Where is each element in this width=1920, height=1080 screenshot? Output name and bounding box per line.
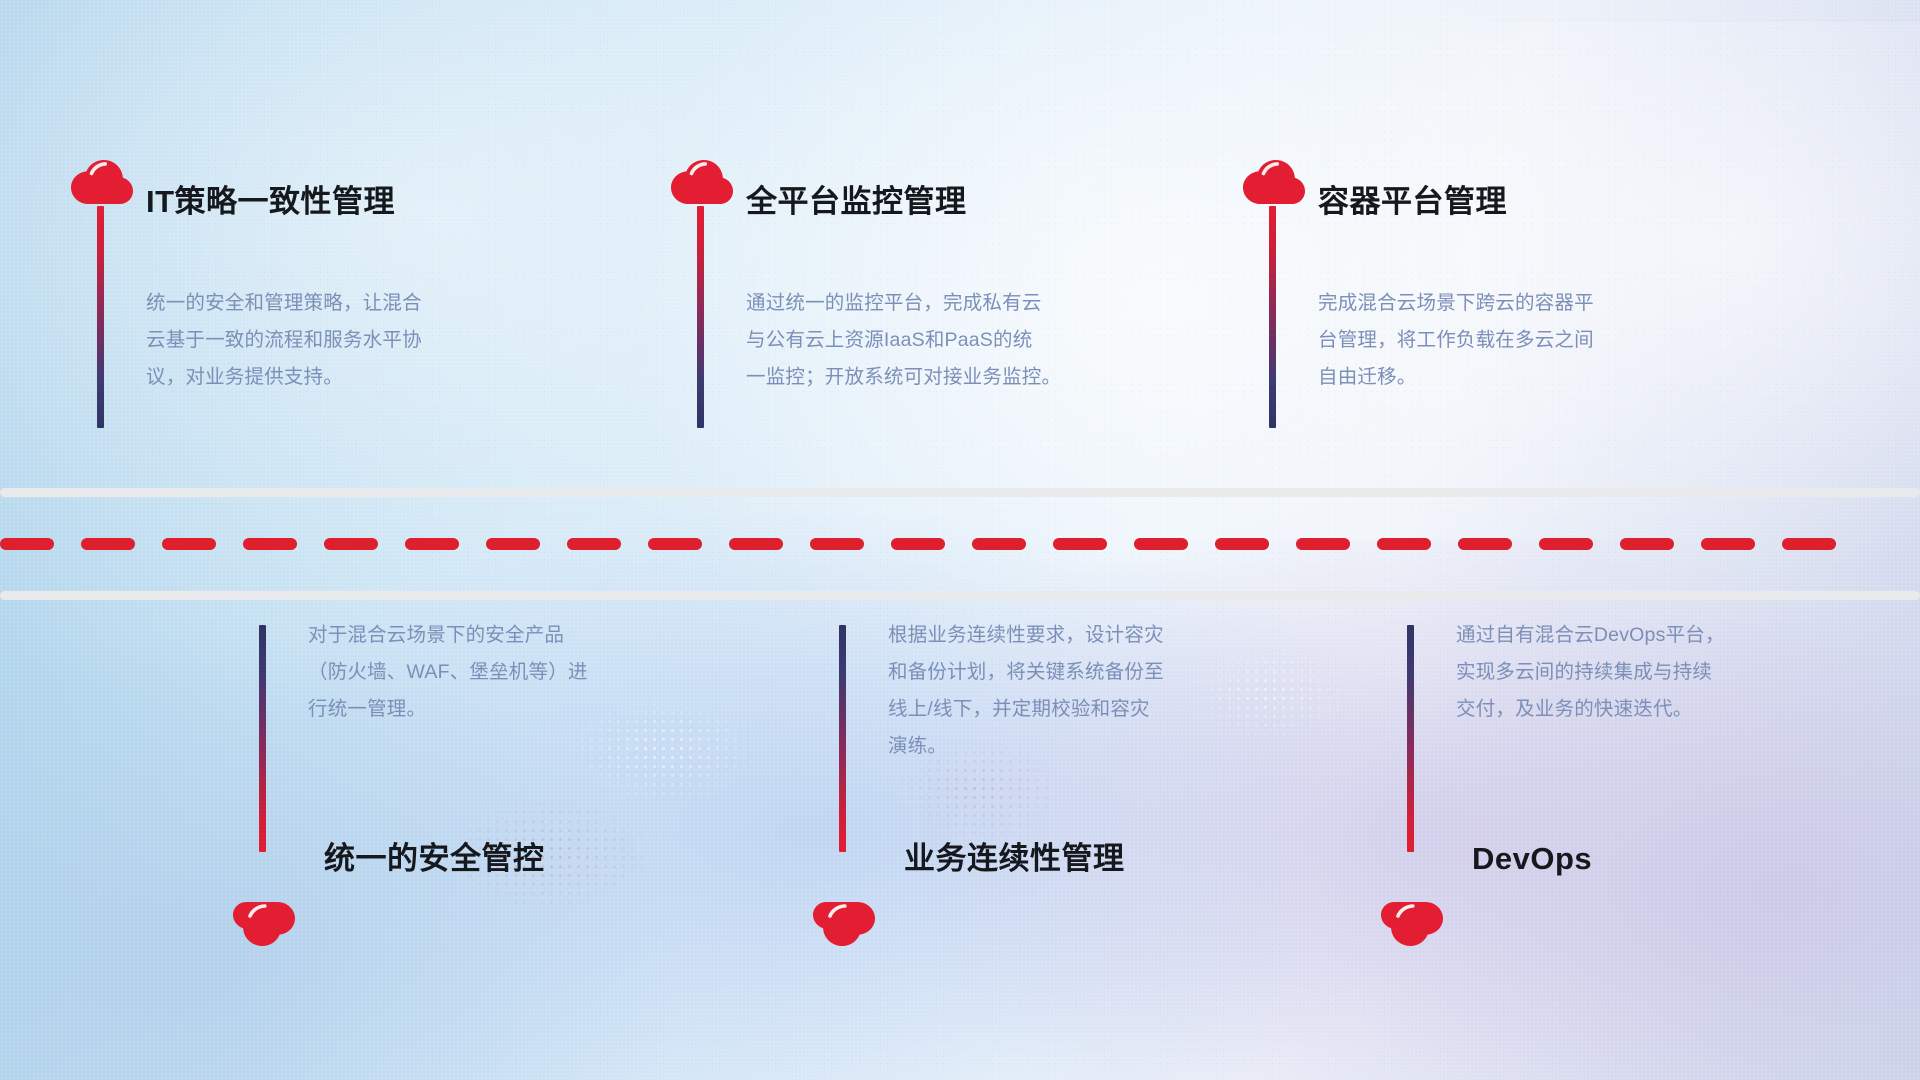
cloud-icon <box>1243 160 1305 206</box>
connector-stem <box>1269 206 1276 428</box>
divider-dash <box>567 538 621 550</box>
top-item-3-body: 完成混合云场景下跨云的容器平 台管理，将工作负载在多云之间 自由迁移。 <box>1318 285 1748 396</box>
divider-dash <box>648 538 702 550</box>
connector-stem <box>259 625 266 852</box>
bottom-item-2-title: 业务连续性管理 <box>904 843 1125 874</box>
bottom-item-1-body: 对于混合云场景下的安全产品 （防火墙、WAF、堡垒机等）进 行统一管理。 <box>308 617 738 728</box>
cloud-icon <box>1381 900 1443 946</box>
bottom-item-2-body: 根据业务连续性要求，设计容灾 和备份计划，将关键系统备份至 线上/线下，并定期校… <box>888 617 1328 765</box>
cloud-icon <box>813 900 875 946</box>
top-item-3-title: 容器平台管理 <box>1318 186 1507 217</box>
top-item-2-body: 通过统一的监控平台，完成私有云 与公有云上资源IaaS和PaaS的统 一监控；开… <box>746 285 1196 396</box>
divider-dash <box>324 538 378 550</box>
divider-rule-top <box>0 488 1920 497</box>
bottom-item-1-title: 统一的安全管控 <box>324 843 545 874</box>
divider-dash <box>891 538 945 550</box>
divider-dash <box>81 538 135 550</box>
divider-dash <box>1620 538 1674 550</box>
cloud-icon <box>671 160 733 206</box>
divider-dash <box>1377 538 1431 550</box>
divider-dash <box>972 538 1026 550</box>
connector-stem <box>97 206 104 428</box>
divider-dash <box>810 538 864 550</box>
divider-dash <box>486 538 540 550</box>
divider-dash <box>1134 538 1188 550</box>
section-divider <box>0 488 1920 600</box>
divider-dashed-line <box>0 538 1920 550</box>
top-item-1-title: IT策略一致性管理 <box>146 186 395 217</box>
divider-dash <box>1053 538 1107 550</box>
cloud-icon <box>71 160 133 206</box>
divider-dash <box>405 538 459 550</box>
divider-dash <box>0 538 54 550</box>
divider-dash <box>162 538 216 550</box>
divider-dash <box>243 538 297 550</box>
cloud-icon <box>233 900 295 946</box>
divider-dash <box>729 538 783 550</box>
connector-stem <box>1407 625 1414 852</box>
top-item-1-body: 统一的安全和管理策略，让混合 云基于一致的流程和服务水平协 议，对业务提供支持。 <box>146 285 576 396</box>
divider-dash <box>1782 538 1836 550</box>
bottom-item-3-body: 通过自有混合云DevOps平台， 实现多云间的持续集成与持续 交付，及业务的快速… <box>1456 617 1886 728</box>
divider-rule-bottom <box>0 591 1920 600</box>
divider-dash <box>1701 538 1755 550</box>
connector-stem <box>839 625 846 852</box>
divider-dash <box>1458 538 1512 550</box>
divider-dash <box>1539 538 1593 550</box>
bottom-item-3-title: DevOps <box>1472 843 1592 874</box>
divider-dash <box>1296 538 1350 550</box>
connector-stem <box>697 206 704 428</box>
divider-dash <box>1215 538 1269 550</box>
top-item-2-title: 全平台监控管理 <box>746 186 967 217</box>
